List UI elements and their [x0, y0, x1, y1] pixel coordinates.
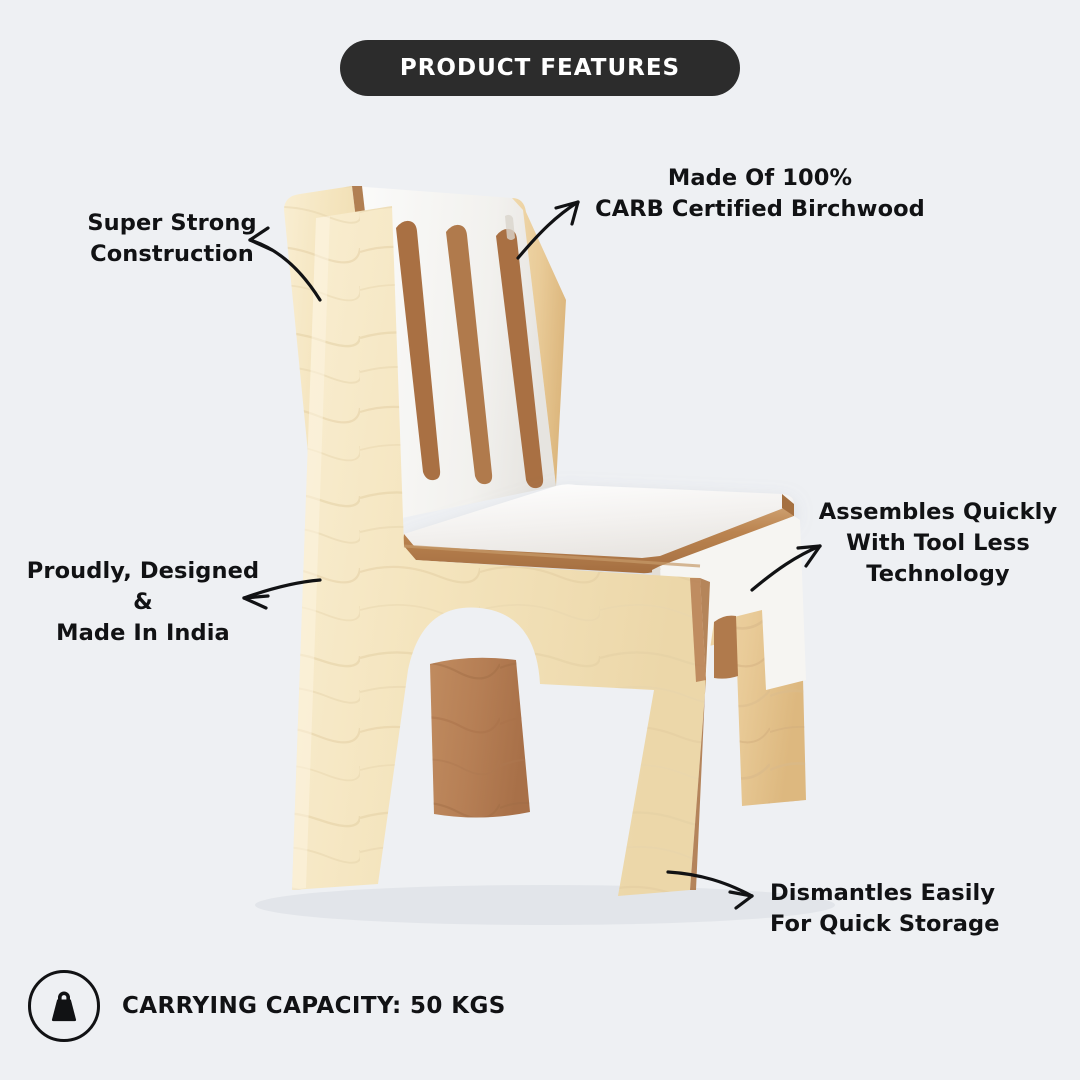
page-title-pill: PRODUCT FEATURES [340, 40, 740, 96]
feature-label-dismantles-easily: Dismantles Easily For Quick Storage [770, 878, 1010, 940]
weight-icon-circle [28, 970, 100, 1042]
infographic-canvas: PRODUCT FEATURES Made Of 100% CARB Certi… [0, 0, 1080, 1080]
feature-label-made-in-india: Proudly, Designed & Made In India [18, 556, 268, 649]
carrying-capacity-label: CARRYING CAPACITY: 50 KGS [122, 993, 506, 1019]
carrying-capacity-badge: CARRYING CAPACITY: 50 KGS [28, 968, 506, 1044]
weight-icon [44, 986, 84, 1026]
feature-label-assembles-quickly: Assembles Quickly With Tool Less Technol… [812, 497, 1064, 590]
page-title: PRODUCT FEATURES [400, 55, 680, 81]
feature-label-birchwood: Made Of 100% CARB Certified Birchwood [590, 163, 930, 225]
feature-label-super-strong: Super Strong Construction [52, 208, 292, 270]
chair-center-panel [430, 658, 530, 818]
